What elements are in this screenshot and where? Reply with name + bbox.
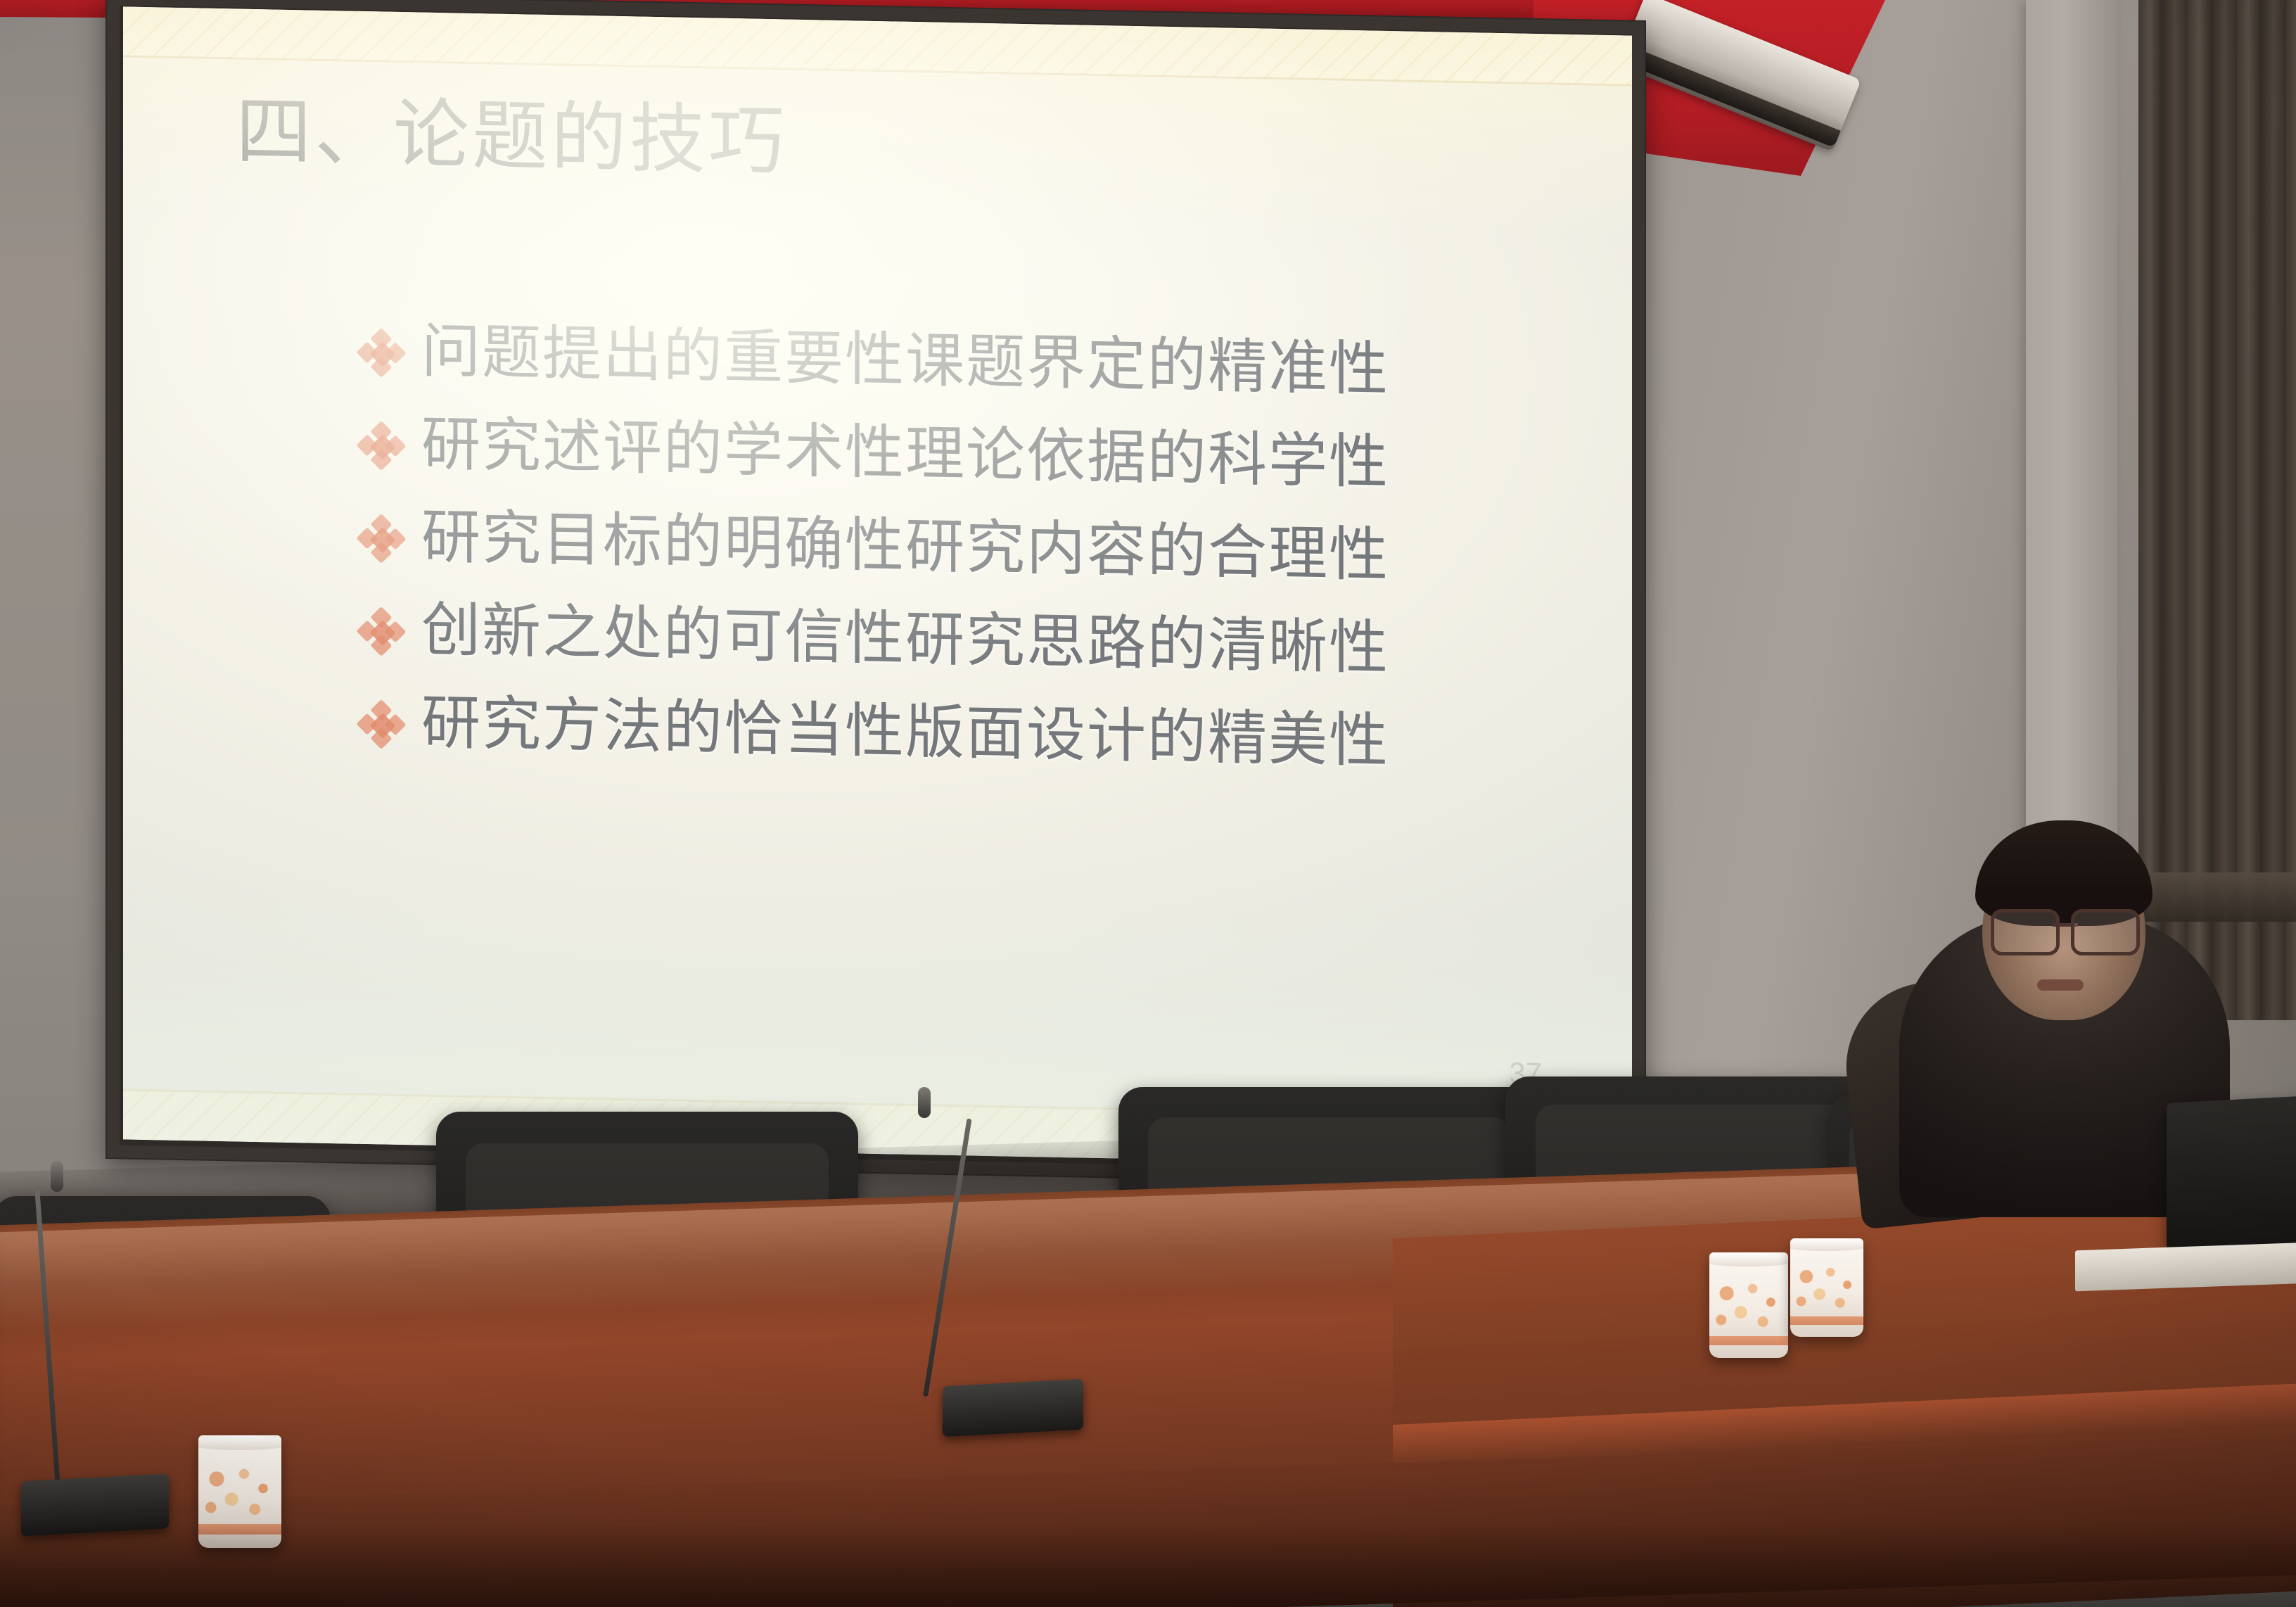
bullet-text-right: 研究内容的合理性 — [905, 516, 1389, 585]
paper-cup — [198, 1435, 281, 1548]
projection-screen: 四、论题的技巧 问题提出的重要性 课题界定的精准性 研究述评的学术性 理论依据的… — [123, 6, 1632, 1168]
diamond-bullet-icon — [362, 334, 403, 375]
microphone-base — [943, 1379, 1083, 1437]
bullet-text-left: 研究述评的学术性 — [421, 414, 905, 483]
slide-bullet-list: 问题提出的重要性 课题界定的精准性 研究述评的学术性 理论依据的科学性 研究目标… — [362, 303, 1600, 792]
bullet-text-right: 课题界定的精准性 — [905, 331, 1389, 399]
diamond-bullet-icon — [362, 519, 403, 561]
glasses-icon — [1991, 909, 2140, 948]
slide-top-rule — [123, 55, 1632, 86]
cup-pattern — [1709, 1276, 1788, 1335]
presenter-mouth — [2037, 979, 2084, 991]
cup-pattern — [198, 1460, 281, 1523]
bullet-text-left: 研究目标的明确性 — [421, 507, 905, 576]
cup-band — [1790, 1316, 1863, 1326]
bullet-text-right: 理论依据的科学性 — [905, 424, 1389, 492]
diamond-bullet-icon — [362, 612, 403, 654]
paper-cup — [1790, 1238, 1863, 1337]
diamond-bullet-icon — [362, 705, 403, 747]
cup-band — [1709, 1336, 1788, 1346]
slide-title: 四、论题的技巧 — [236, 91, 787, 182]
photo-scene: 四、论题的技巧 问题提出的重要性 课题界定的精准性 研究述评的学术性 理论依据的… — [0, 0, 2296, 1607]
cup-band — [198, 1524, 281, 1534]
bullet-text-left: 研究方法的恰当性 — [421, 693, 905, 761]
bullet-text-right: 版面设计的精美性 — [905, 702, 1389, 770]
microphone-head — [918, 1087, 931, 1118]
avatar — [1899, 704, 2296, 1309]
diamond-bullet-icon — [362, 426, 403, 468]
papers — [2075, 1240, 2296, 1292]
paper-cup — [1709, 1252, 1788, 1358]
microphone-head — [51, 1161, 63, 1192]
microphone-base — [21, 1473, 169, 1536]
bullet-text-left: 问题提出的重要性 — [421, 322, 905, 390]
cup-pattern — [1790, 1260, 1863, 1315]
bullet-text-left: 创新之处的可信性 — [421, 600, 905, 668]
bullet-text-right: 研究思路的清晰性 — [905, 609, 1389, 678]
